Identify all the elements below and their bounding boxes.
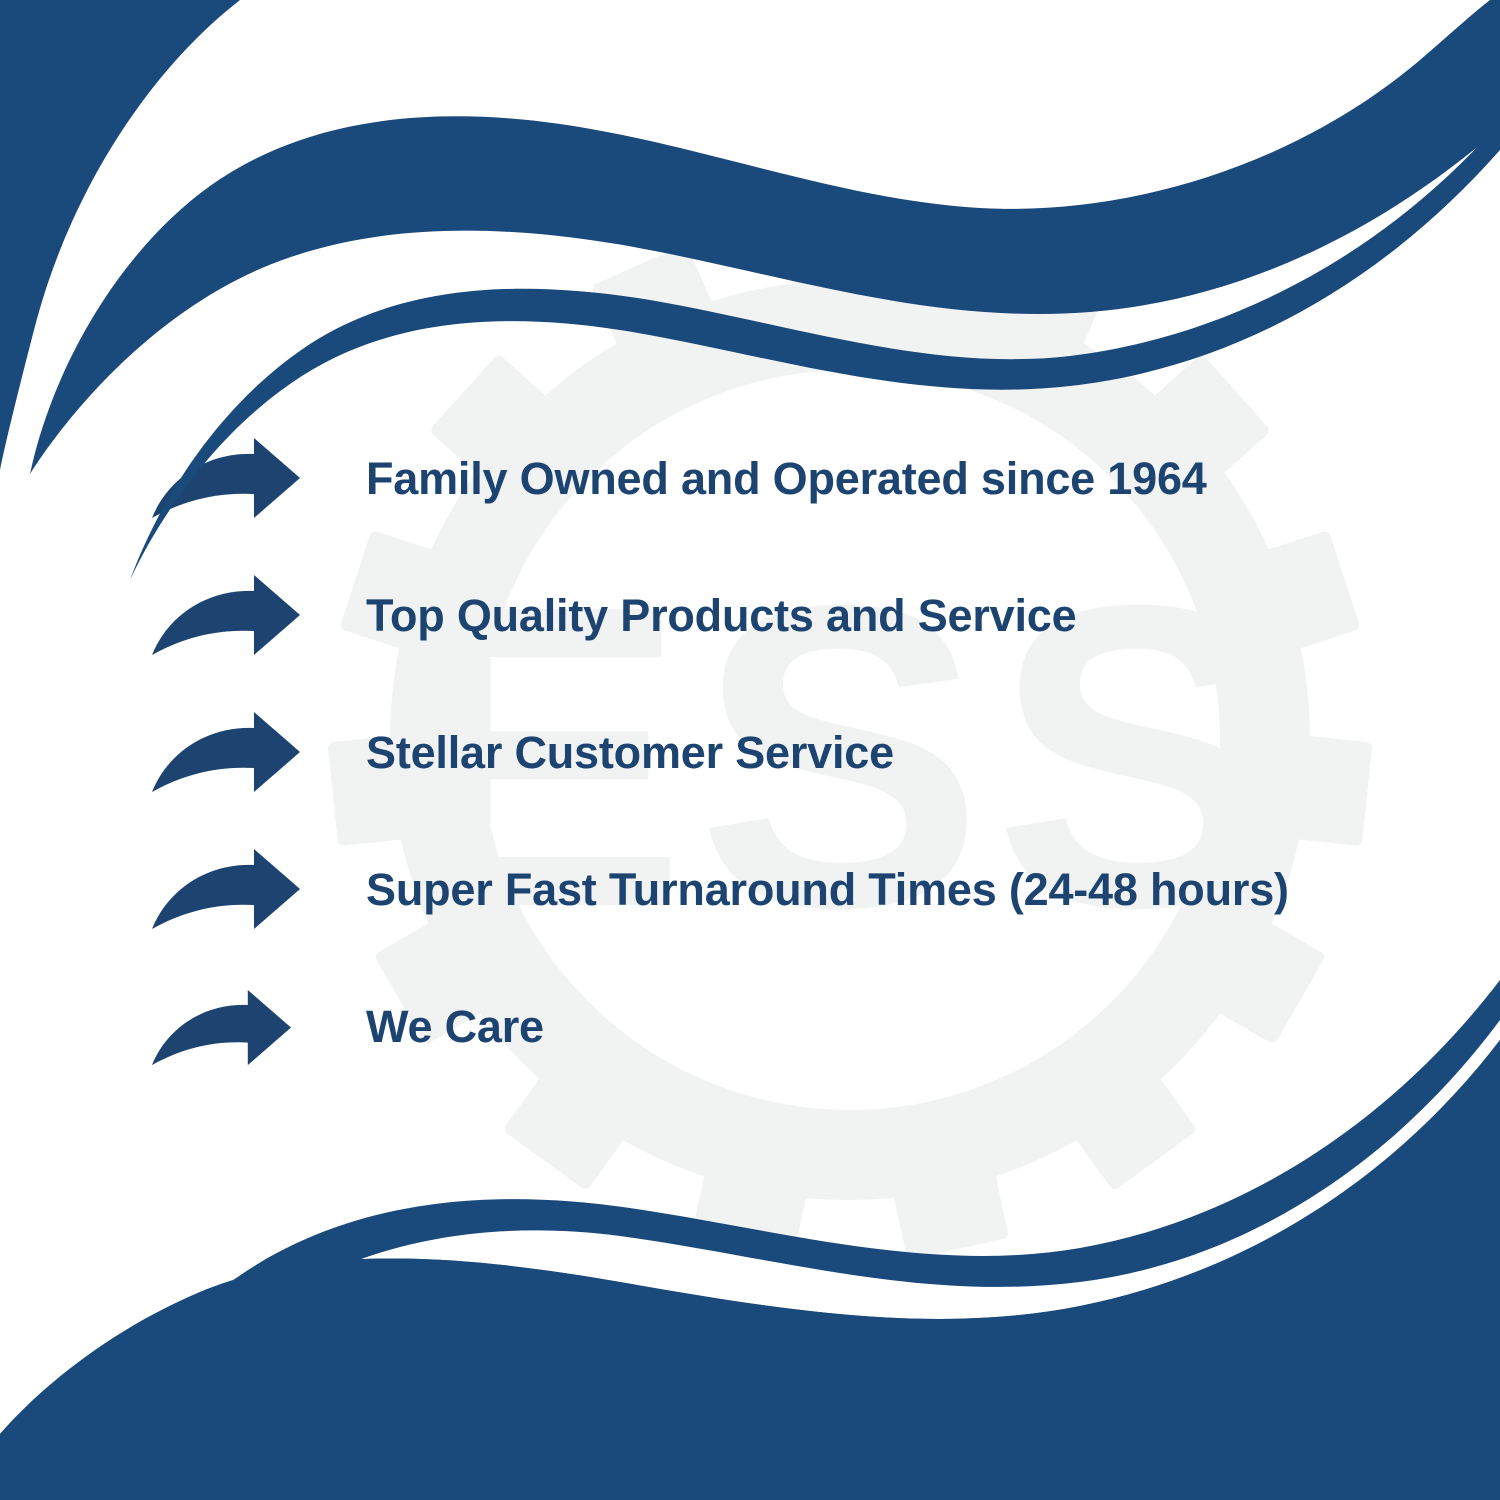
benefit-label: Top Quality Products and Service: [366, 575, 1076, 657]
curved-arrow-right-icon: [150, 438, 302, 520]
benefit-label: We Care: [366, 986, 544, 1068]
benefit-item: Super Fast Turnaround Times (24-48 hours…: [0, 841, 1500, 978]
page-title: WHY SHOP WITH US: [0, 18, 1500, 116]
benefit-label: Super Fast Turnaround Times (24-48 hours…: [366, 849, 1289, 931]
benefit-item: Stellar Customer Service: [0, 704, 1500, 841]
curved-arrow-right-icon: [150, 990, 293, 1067]
benefit-item: Family Owned and Operated since 1964: [0, 430, 1500, 567]
curved-arrow-right-icon: [150, 575, 302, 657]
why-shop-with-us-graphic: ESS WHY SHOP WITH US Family Owned and Op…: [0, 0, 1500, 1500]
benefit-item: Top Quality Products and Service: [0, 567, 1500, 704]
benefit-label: Stellar Customer Service: [366, 712, 894, 794]
curved-arrow-right-icon: [150, 849, 302, 931]
benefits-list: Family Owned and Operated since 1964 Top…: [0, 430, 1500, 1115]
benefit-item: We Care: [0, 978, 1500, 1115]
curved-arrow-right-icon: [150, 712, 302, 794]
benefit-label: Family Owned and Operated since 1964: [366, 438, 1207, 520]
